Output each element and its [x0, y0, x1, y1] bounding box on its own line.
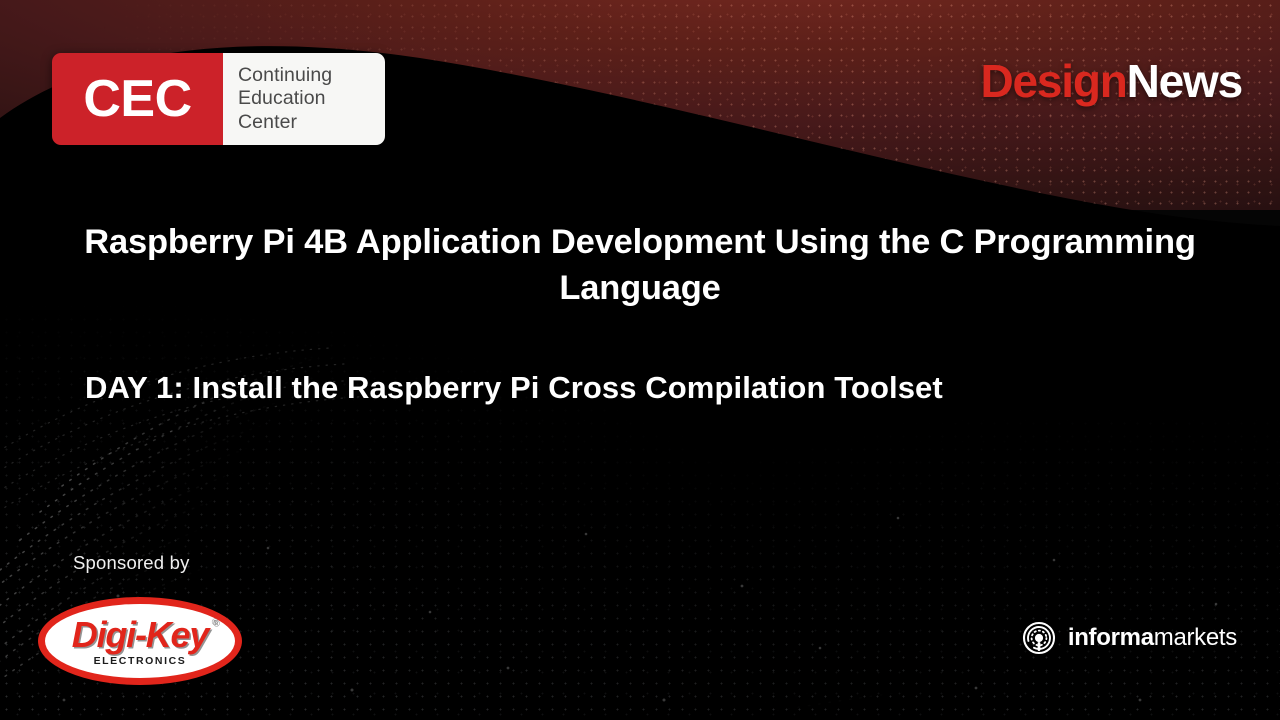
design-news-logo-design: Design — [980, 55, 1126, 107]
presentation-slide: CEC Continuing Education Center DesignNe… — [0, 0, 1280, 720]
cec-logo-line-1: Continuing — [238, 64, 385, 87]
cec-logo-acronym-panel: CEC — [52, 53, 223, 145]
informa-markets-logo: informamarkets — [1021, 620, 1237, 656]
registered-trademark-icon: ® — [212, 618, 217, 627]
design-news-logo: DesignNews — [980, 58, 1242, 104]
markets-word: markets — [1154, 624, 1237, 651]
digikey-logo-tagline: ELECTRONICS — [94, 656, 187, 667]
cec-logo: CEC Continuing Education Center — [52, 53, 385, 145]
informa-word: informa — [1068, 624, 1154, 651]
sponsored-by-label: Sponsored by — [73, 552, 190, 574]
digikey-logo-wordmark: Digi-Key — [72, 614, 208, 655]
informa-spiral-icon — [1021, 620, 1057, 656]
cec-logo-line-2: Education — [238, 87, 385, 110]
slide-title: Raspberry Pi 4B Application Development … — [30, 220, 1250, 312]
digikey-logo-wordmark-row: Digi-Key® — [72, 617, 208, 653]
cec-logo-name-panel: Continuing Education Center — [223, 53, 385, 145]
informa-markets-wordmark: informamarkets — [1068, 626, 1237, 650]
cec-logo-acronym: CEC — [83, 73, 191, 125]
design-news-logo-news: News — [1127, 55, 1242, 107]
slide-subtitle: DAY 1: Install the Raspberry Pi Cross Co… — [85, 364, 1085, 411]
digikey-logo: Digi-Key® ELECTRONICS — [38, 597, 242, 685]
cec-logo-line-3: Center — [238, 111, 385, 134]
